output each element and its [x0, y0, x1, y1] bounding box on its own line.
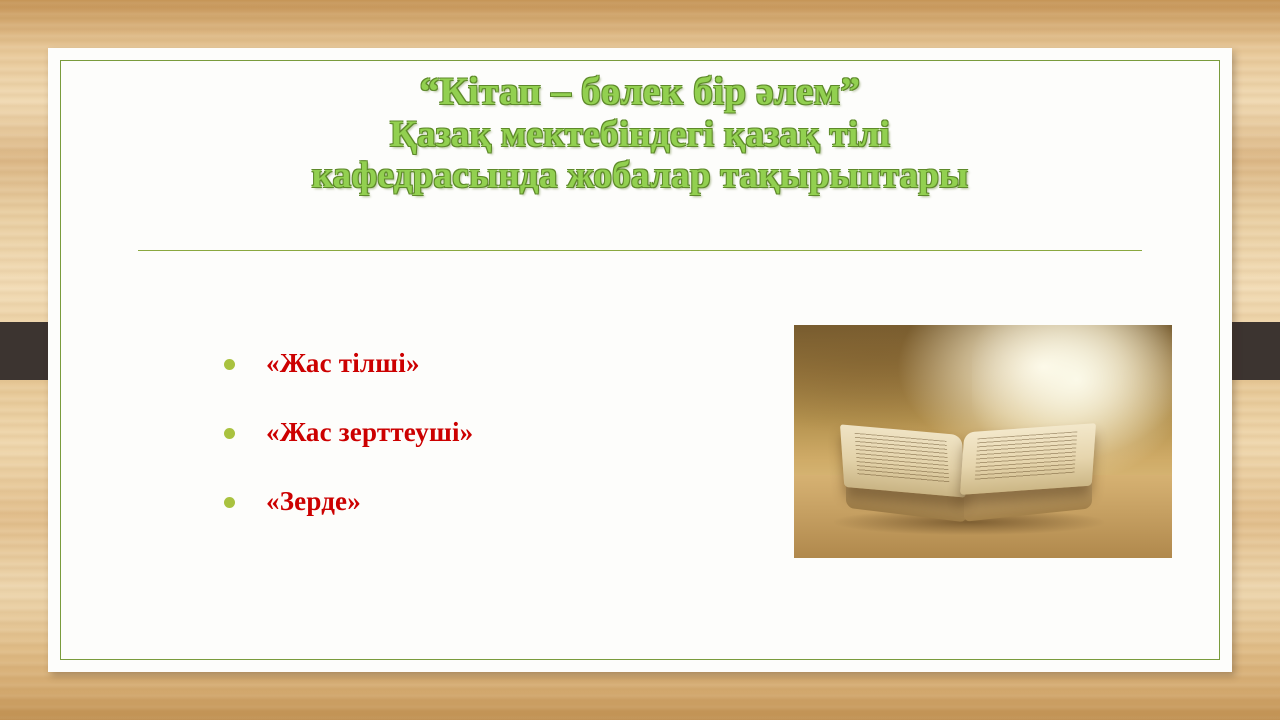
photo-right-page-text: [975, 431, 1078, 480]
list-item-label: «Жас тілші»: [266, 348, 420, 378]
title-line-3: кафедрасында жобалар тақырыптары: [138, 155, 1142, 196]
list-item: «Жас зерттеуші»: [220, 417, 780, 448]
title-line-1: “Кітап – бөлек бір әлем”: [138, 70, 1142, 114]
list-item: «Жас тілші»: [220, 348, 780, 379]
open-antique-book-photo: [794, 325, 1172, 558]
project-topics-list: «Жас тілші» «Жас зерттеуші» «Зерде»: [220, 348, 780, 555]
list-item-label: «Зерде»: [266, 486, 361, 516]
bullet-dot-icon: [224, 359, 235, 370]
list-item: «Зерде»: [220, 486, 780, 517]
photo-left-page-text: [855, 433, 950, 483]
title-line-2: Қазақ мектебіндегі қазақ тілі: [138, 114, 1142, 155]
list-item-label: «Жас зерттеуші»: [266, 417, 473, 447]
title-underline: [138, 250, 1142, 251]
bullet-dot-icon: [224, 428, 235, 439]
bullet-dot-icon: [224, 497, 235, 508]
slide-title: “Кітап – бөлек бір әлем” Қазақ мектебінд…: [138, 70, 1142, 197]
slide-content-card: “Кітап – бөлек бір әлем” Қазақ мектебінд…: [48, 48, 1232, 672]
slide: “Кітап – бөлек бір әлем” Қазақ мектебінд…: [0, 0, 1280, 720]
